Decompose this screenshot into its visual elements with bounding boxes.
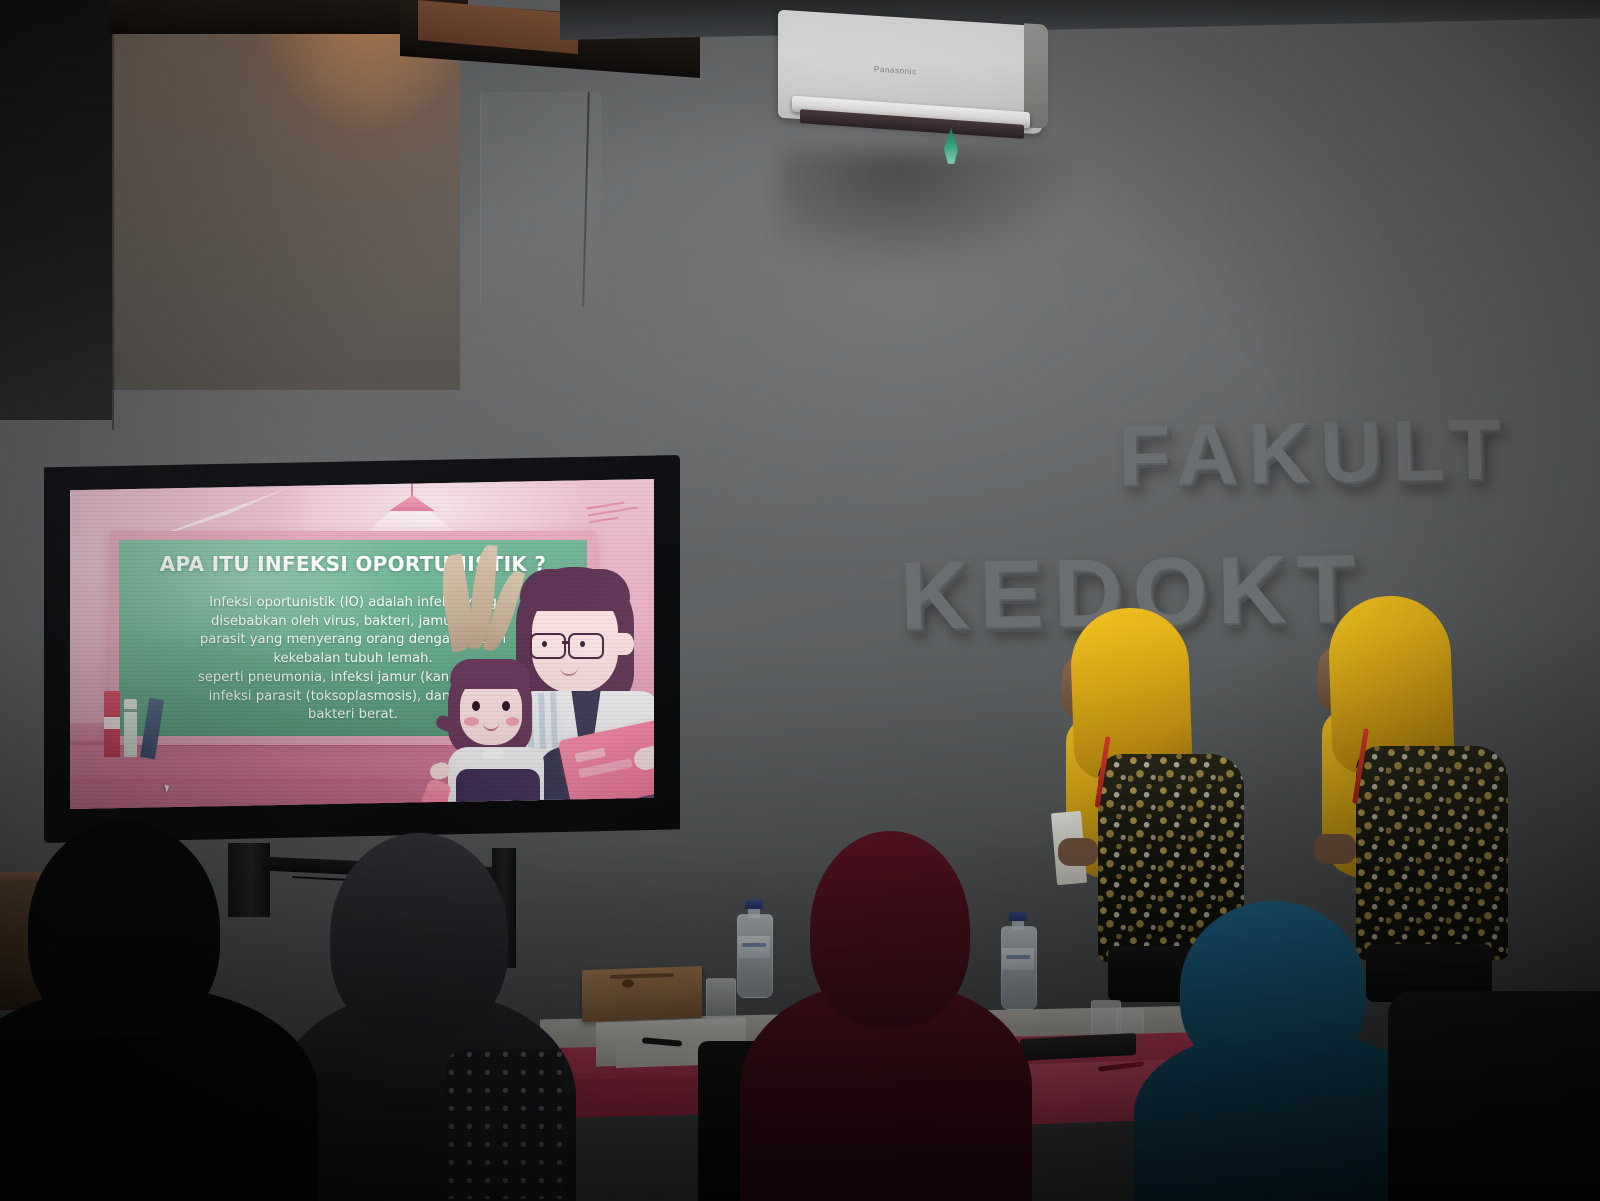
book-white-icon <box>124 699 137 757</box>
woman-eye <box>542 641 547 647</box>
child-eye <box>472 701 480 711</box>
pendant-lamp-icon <box>389 495 435 511</box>
tv-screen[interactable]: APA ITU INFEKSI OPORTUNISTIK ? Infeksi o… <box>70 479 654 809</box>
audience-maroon-hijab <box>740 831 1030 1201</box>
child-eye <box>502 701 510 711</box>
woman-eye <box>580 641 585 647</box>
presenter-hands <box>1058 838 1098 866</box>
woman-ear <box>618 633 634 655</box>
decor-speed-lines <box>586 497 645 531</box>
audience-hijab <box>330 833 508 1039</box>
ac-shadow <box>778 150 1078 270</box>
snack-box <box>582 966 702 1022</box>
child-blush <box>464 717 479 726</box>
audience-patterned-sleeve <box>446 1049 564 1199</box>
audience-black-hijab <box>0 811 300 1201</box>
woman-fringe <box>520 569 630 611</box>
child-fringe <box>450 659 530 689</box>
presenter-hands <box>1314 834 1356 864</box>
glasses-icon <box>530 633 566 659</box>
slide-illustration <box>420 541 654 809</box>
presentation-room-photo: Panasonic FAKULT KEDOKT APA ITU INFEKSI … <box>0 0 1600 1201</box>
presentation-screen[interactable]: APA ITU INFEKSI OPORTUNISTIK ? Infeksi o… <box>44 455 680 843</box>
warm-lit-wall-panel <box>100 0 460 390</box>
audience-blue-hijab <box>1138 901 1428 1201</box>
left-dark-wall <box>0 0 112 420</box>
glasses-icon <box>568 633 604 659</box>
bow-tie-icon <box>482 749 504 759</box>
audience-hijab <box>28 821 220 1037</box>
book-red-icon <box>104 691 120 757</box>
slide-canvas: APA ITU INFEKSI OPORTUNISTIK ? Infeksi o… <box>70 479 654 809</box>
audience-hijab <box>1180 901 1366 1077</box>
glasses-bridge <box>562 641 570 644</box>
wall-sign-line-1: FAKULT <box>1117 401 1511 507</box>
wall-seam <box>112 0 114 430</box>
foreground-dark-figure <box>1388 991 1600 1201</box>
child-blush <box>506 717 519 726</box>
air-conditioner-unit: Panasonic <box>778 18 1043 146</box>
audience-hijab <box>810 831 970 1027</box>
